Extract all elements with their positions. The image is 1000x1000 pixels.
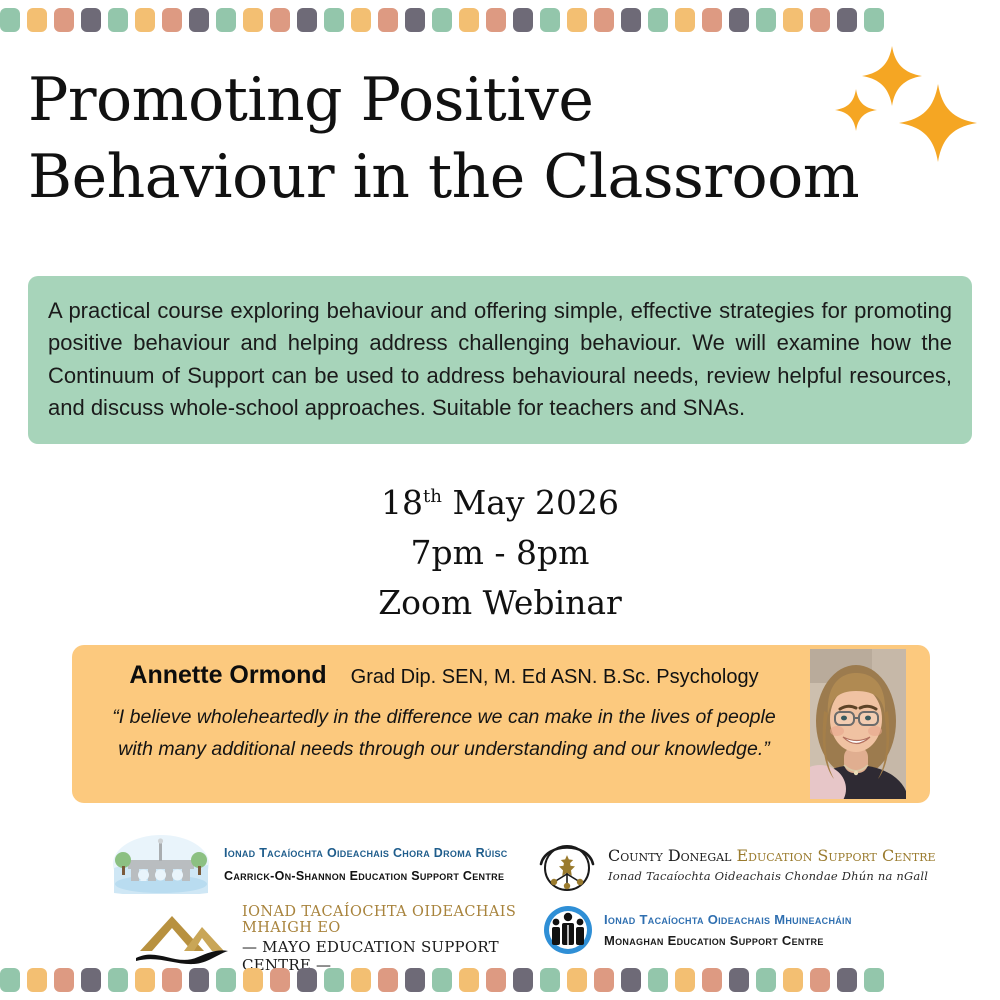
border-dash — [54, 8, 74, 32]
event-platform: Zoom Webinar — [0, 578, 1000, 628]
border-dash — [27, 968, 47, 992]
border-dash — [216, 8, 236, 32]
logo-donegal-county: County Donegal — [608, 846, 731, 865]
border-dash — [837, 968, 857, 992]
poster-canvas: Promoting Positive Behaviour in the Clas… — [0, 0, 1000, 1000]
border-dash — [864, 8, 884, 32]
title-line-1: Promoting Positive — [28, 62, 918, 139]
logo-carrick-on-shannon: Ionad Tacaíochta Oideachais Chora Droma … — [112, 834, 532, 894]
border-dash — [135, 8, 155, 32]
border-dash — [378, 8, 398, 32]
border-dash — [378, 968, 398, 992]
logo-monaghan-irish: Ionad Tacaíochta Oideachais Mhuineacháin — [604, 912, 852, 927]
event-time: 7pm - 8pm — [0, 528, 1000, 578]
border-dash — [162, 968, 182, 992]
border-dash — [0, 968, 20, 992]
monaghan-circle-icon — [542, 904, 594, 956]
event-date-day: 18 — [381, 483, 423, 522]
border-dash — [405, 8, 425, 32]
border-dash — [459, 968, 479, 992]
border-dash — [621, 968, 641, 992]
event-date: 18th May 2026 — [0, 478, 1000, 528]
border-dash — [675, 8, 695, 32]
logo-carrick-irish: Ionad Tacaíochta Oideachais Chora Droma … — [224, 846, 508, 860]
presenter-quote: “I believe wholeheartedly in the differe… — [86, 702, 802, 765]
donegal-crest-icon — [536, 834, 598, 894]
border-dash — [540, 968, 560, 992]
border-dash — [54, 968, 74, 992]
bridge-logo-icon — [112, 834, 210, 894]
border-dash — [540, 8, 560, 32]
presenter-info: Annette Ormond Grad Dip. SEN, M. Ed ASN.… — [72, 645, 812, 803]
presenter-avatar — [810, 649, 906, 799]
presenter-qualifications: Grad Dip. SEN, M. Ed ASN. B.Sc. Psycholo… — [351, 666, 759, 689]
border-dash — [459, 8, 479, 32]
border-dash — [810, 8, 830, 32]
border-dash — [702, 8, 722, 32]
page-title: Promoting Positive Behaviour in the Clas… — [28, 62, 918, 216]
border-dash — [405, 968, 425, 992]
logo-donegal-irish: Ionad Tacaíochta Oideachais Chondae Dhún… — [608, 869, 936, 883]
border-dash — [27, 8, 47, 32]
border-dash — [270, 8, 290, 32]
logo-donegal-text: County Donegal Education Support Centre … — [608, 846, 936, 883]
border-dash — [567, 8, 587, 32]
border-dash — [162, 8, 182, 32]
border-dash — [756, 968, 776, 992]
border-dash — [432, 8, 452, 32]
border-dash — [351, 8, 371, 32]
border-dash — [108, 8, 128, 32]
border-dash — [486, 968, 506, 992]
logo-monaghan-english: Monaghan Education Support Centre — [604, 933, 852, 948]
border-dash — [783, 8, 803, 32]
border-dash — [675, 968, 695, 992]
border-dash — [783, 968, 803, 992]
logo-monaghan: Ionad Tacaíochta Oideachais Mhuineacháin… — [542, 904, 942, 956]
logo-mayo-irish: Ionad Tacaíochta Oideachais Mhaigh Eo — [242, 904, 532, 936]
logo-carrick-text: Ionad Tacaíochta Oideachais Chora Droma … — [220, 846, 508, 883]
border-dash — [648, 968, 668, 992]
event-date-rest: May 2026 — [442, 483, 619, 522]
decorative-border-bottom — [0, 968, 1000, 992]
logo-donegal-suffix: Education Support Centre — [731, 846, 935, 865]
border-dash — [648, 8, 668, 32]
border-dash — [324, 8, 344, 32]
border-dash — [756, 8, 776, 32]
presenter-name: Annette Ormond — [129, 661, 326, 690]
border-dash — [702, 968, 722, 992]
presenter-header: Annette Ormond Grad Dip. SEN, M. Ed ASN.… — [86, 661, 802, 690]
logo-county-donegal: County Donegal Education Support Centre … — [536, 834, 936, 894]
logo-mayo: Ionad Tacaíochta Oideachais Mhaigh Eo — … — [132, 904, 532, 974]
border-dash — [729, 8, 749, 32]
border-dash — [513, 968, 533, 992]
border-dash — [351, 968, 371, 992]
logo-donegal-primary: County Donegal Education Support Centre — [608, 846, 936, 865]
title-line-2: Behaviour in the Classroom — [28, 139, 918, 216]
border-dash — [189, 968, 209, 992]
border-dash — [189, 8, 209, 32]
presenter-panel: Annette Ormond Grad Dip. SEN, M. Ed ASN.… — [72, 645, 930, 803]
border-dash — [216, 968, 236, 992]
border-dash — [486, 8, 506, 32]
border-dash — [135, 968, 155, 992]
border-dash — [594, 8, 614, 32]
course-description-text: A practical course exploring behaviour a… — [48, 295, 952, 424]
border-dash — [324, 968, 344, 992]
border-dash — [513, 8, 533, 32]
border-dash — [621, 8, 641, 32]
logo-monaghan-text: Ionad Tacaíochta Oideachais Mhuineacháin… — [604, 912, 852, 948]
border-dash — [108, 968, 128, 992]
border-dash — [594, 968, 614, 992]
partner-logos: Ionad Tacaíochta Oideachais Chora Droma … — [0, 832, 1000, 972]
border-dash — [864, 968, 884, 992]
border-dash — [567, 968, 587, 992]
event-details: 18th May 2026 7pm - 8pm Zoom Webinar — [0, 478, 1000, 628]
border-dash — [243, 968, 263, 992]
border-dash — [297, 968, 317, 992]
border-dash — [81, 8, 101, 32]
border-dash — [729, 968, 749, 992]
border-dash — [432, 968, 452, 992]
border-dash — [810, 968, 830, 992]
border-dash — [270, 968, 290, 992]
border-dash — [0, 8, 20, 32]
border-dash — [297, 8, 317, 32]
mountain-logo-icon — [132, 911, 232, 967]
logo-mayo-text: Ionad Tacaíochta Oideachais Mhaigh Eo — … — [242, 904, 532, 974]
border-dash — [81, 968, 101, 992]
event-date-ordinal: th — [423, 486, 442, 507]
decorative-border-top — [0, 8, 1000, 32]
border-dash — [837, 8, 857, 32]
logo-carrick-english: Carrick-On-Shannon Education Support Cen… — [224, 869, 508, 883]
course-description-box: A practical course exploring behaviour a… — [28, 276, 972, 444]
border-dash — [243, 8, 263, 32]
